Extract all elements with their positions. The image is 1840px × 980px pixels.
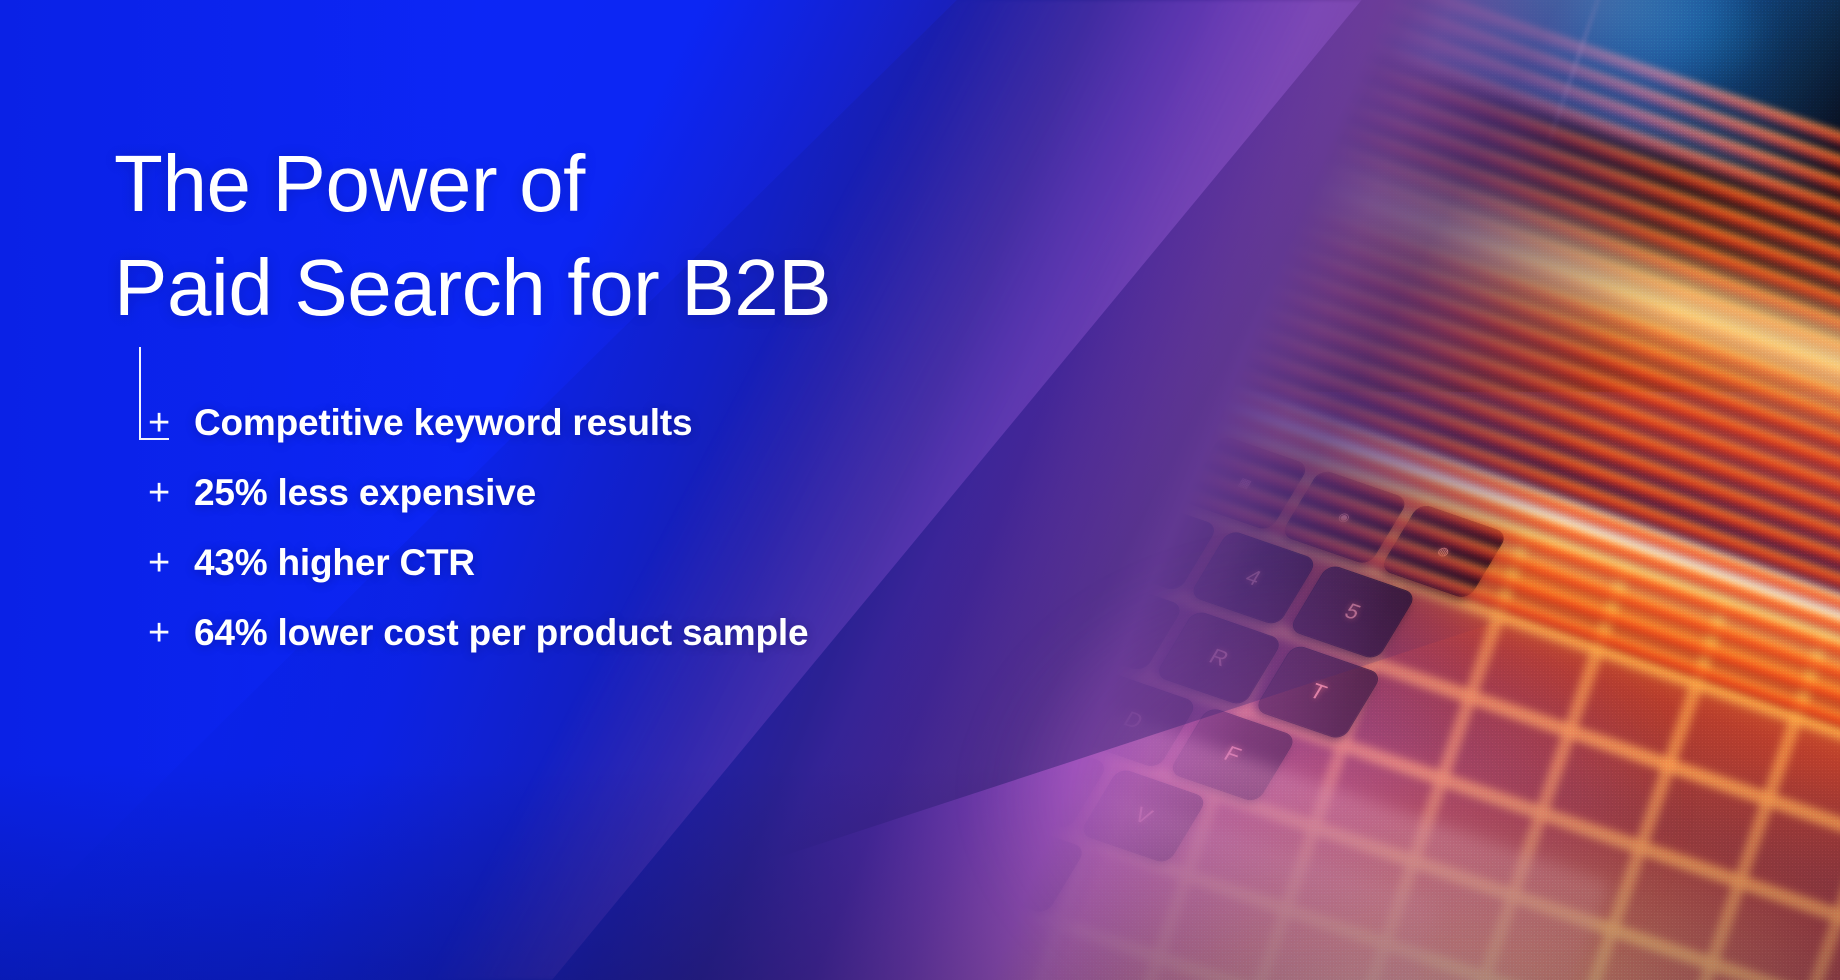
content-layer: The Power of Paid Search for B2B + Compe… xyxy=(0,0,1840,980)
list-item: + 43% higher CTR xyxy=(148,544,808,614)
plus-icon: + xyxy=(148,404,194,442)
benefit-label: 43% higher CTR xyxy=(194,544,475,581)
benefit-label: 64% lower cost per product sample xyxy=(194,614,808,651)
benefits-list: + Competitive keyword results + 25% less… xyxy=(148,404,808,684)
plus-icon: + xyxy=(148,474,194,512)
list-item: + 25% less expensive xyxy=(148,474,808,544)
page-title: The Power of Paid Search for B2B xyxy=(114,132,831,340)
plus-icon: + xyxy=(148,544,194,582)
list-item: + Competitive keyword results xyxy=(148,404,808,474)
plus-icon: + xyxy=(148,614,194,652)
benefit-label: Competitive keyword results xyxy=(194,404,692,441)
promo-graphic: esc ☀ ☀ ▦ ◉ ◍ ` 1 2 3 4 5 ⇥ Q W E R xyxy=(0,0,1840,980)
benefit-label: 25% less expensive xyxy=(194,474,536,511)
list-item: + 64% lower cost per product sample xyxy=(148,614,808,684)
